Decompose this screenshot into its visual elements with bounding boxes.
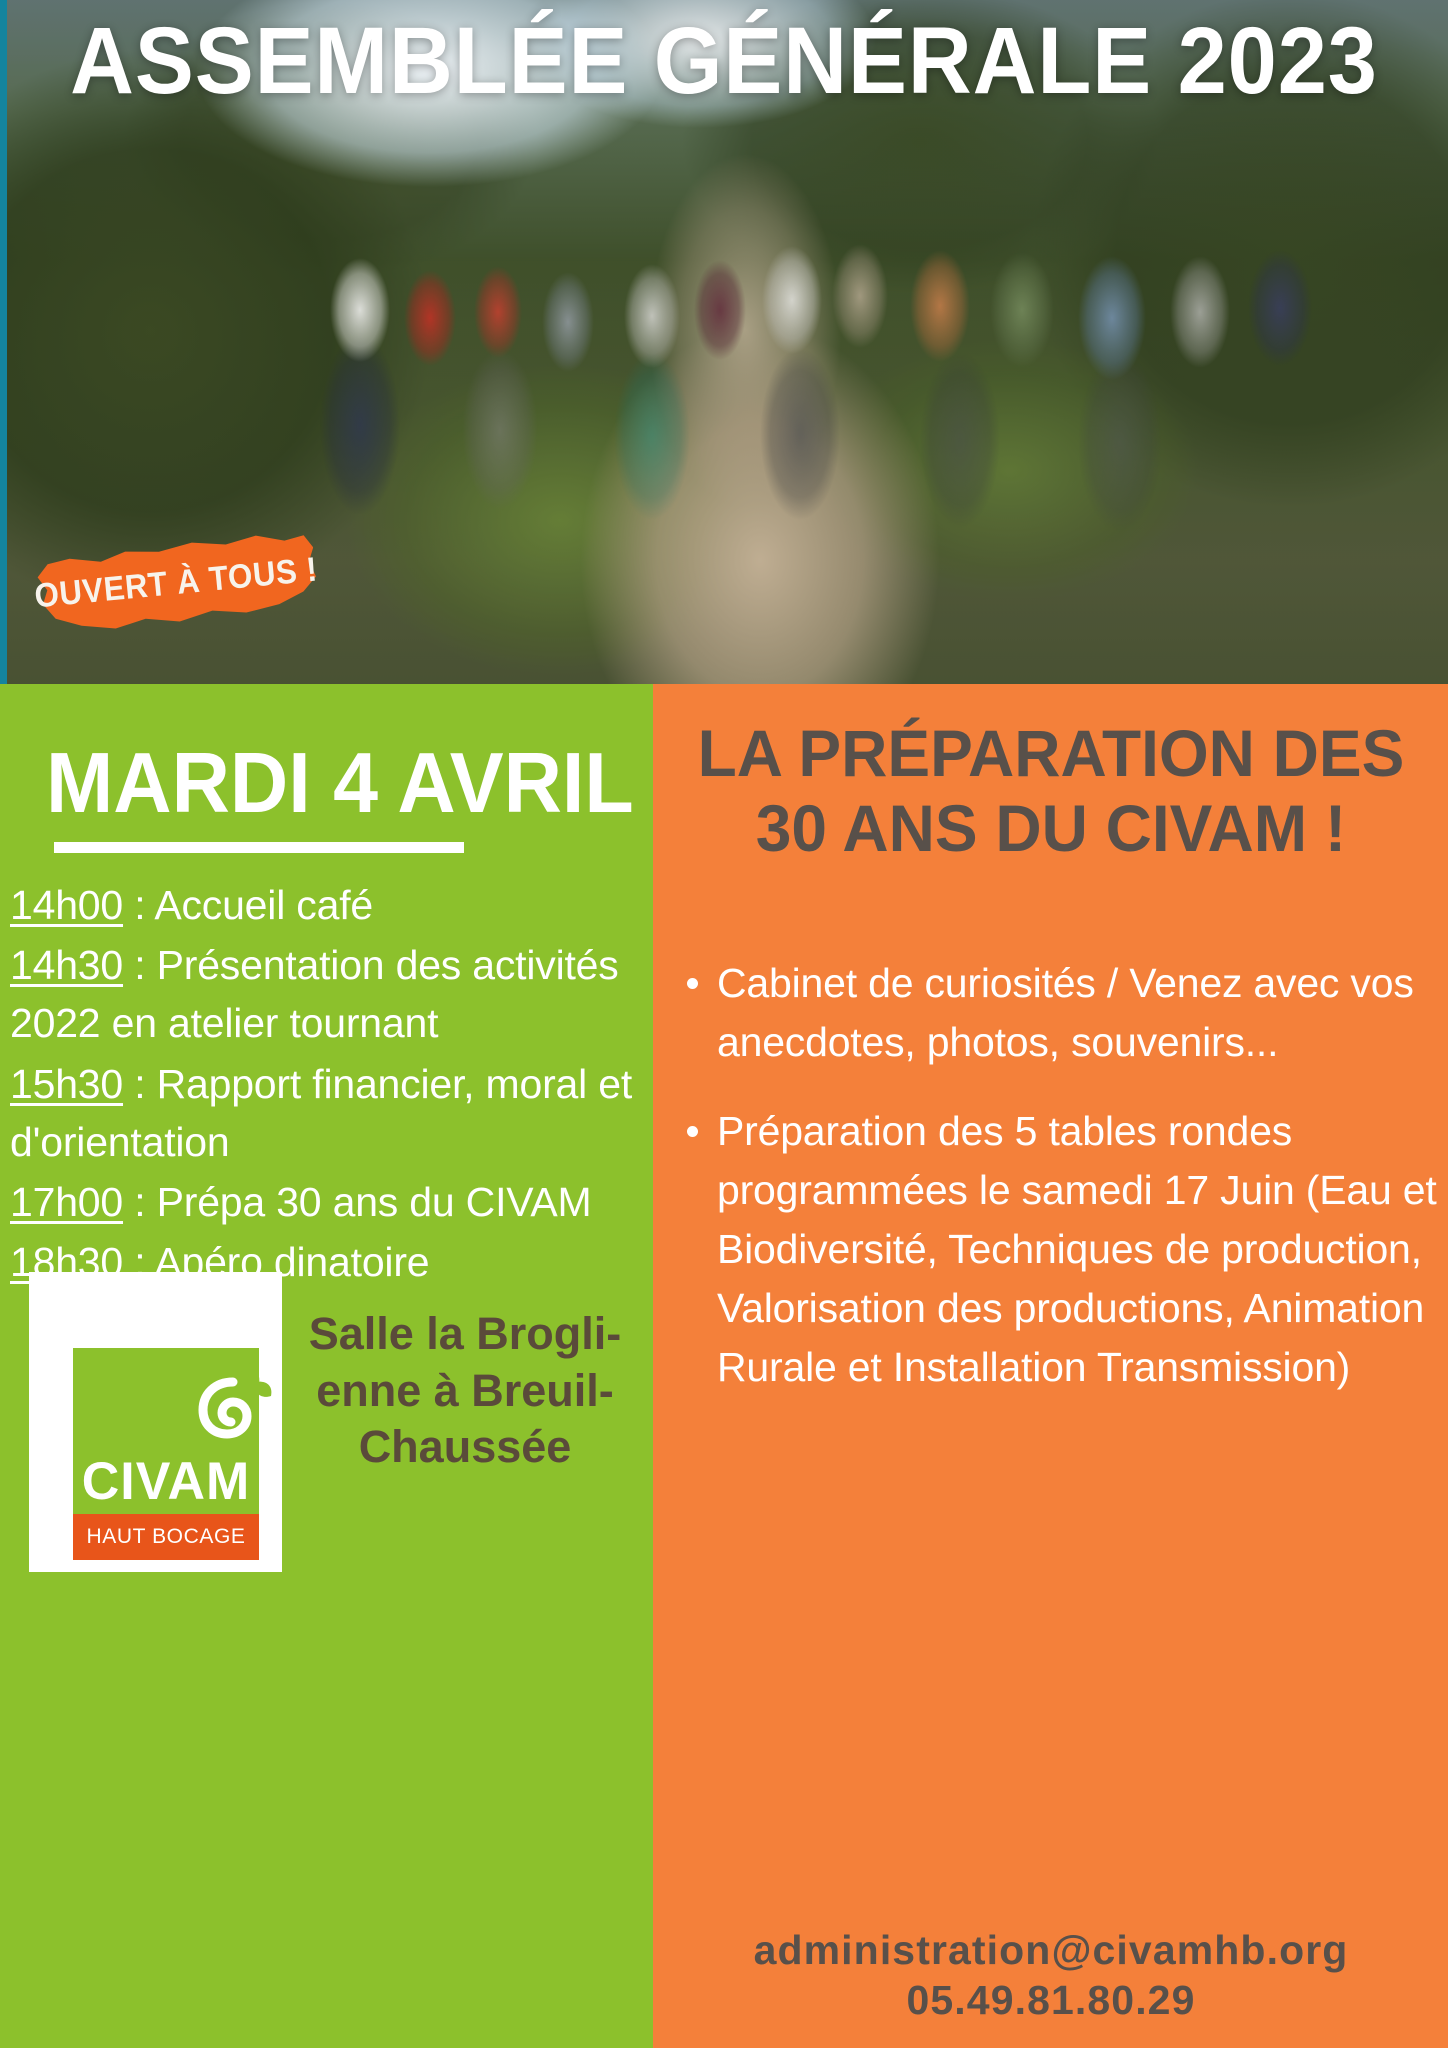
civam-logo: CIVAM HAUT BOCAGE xyxy=(29,1272,282,1572)
group-of-people xyxy=(300,190,1448,590)
schedule-item: 14h00 : Accueil café xyxy=(10,876,640,934)
poster-title: ASSEMBLÉE GÉNÉRALE 2023 xyxy=(51,12,1398,111)
schedule-separator: : xyxy=(123,882,154,928)
schedule-time: 14h00 xyxy=(10,882,123,928)
schedule-separator: : xyxy=(123,1179,157,1225)
schedule-time: 15h30 xyxy=(10,1061,123,1107)
preparation-heading: LA PRÉPARATION DES 30 ANS DU CIVAM ! xyxy=(688,716,1414,866)
day-heading: MARDI 4 AVRIL xyxy=(46,741,634,826)
hero-photo-section: ASSEMBLÉE GÉNÉRALE 2023 OUVERT À TOUS ! xyxy=(0,0,1448,684)
venue-address: Salle la Brogli­enne à Breuil-Chaussée xyxy=(300,1306,630,1476)
bullet-item: Cabinet de curiosités / Venez avec vos a… xyxy=(717,954,1448,1072)
poster: ASSEMBLÉE GÉNÉRALE 2023 OUVERT À TOUS ! … xyxy=(0,0,1448,2048)
civam-tagline: HAUT BOCAGE xyxy=(86,1525,245,1549)
schedule-separator: : xyxy=(123,942,157,988)
contact-email[interactable]: administration@civamhb.org xyxy=(673,1926,1429,1975)
schedule-panel: MARDI 4 AVRIL 14h00 : Accueil café 14h30… xyxy=(0,684,653,2048)
contact-phone[interactable]: 05.49.81.80.29 xyxy=(673,1975,1429,2026)
photo-left-edge-strip xyxy=(0,0,7,684)
bullet-item: Préparation des 5 tables rondes programm… xyxy=(717,1102,1448,1397)
civam-logo-band: HAUT BOCAGE xyxy=(73,1514,259,1560)
civam-wordmark: CIVAM xyxy=(75,1455,257,1508)
schedule-time: 17h00 xyxy=(10,1179,123,1225)
schedule-item: 14h30 : Présentation des activités 2022 … xyxy=(10,936,640,1052)
contact-block: administration@civamhb.org 05.49.81.80.2… xyxy=(673,1926,1429,2026)
schedule-text: Accueil café xyxy=(154,882,373,928)
preparation-panel: LA PRÉPARATION DES 30 ANS DU CIVAM ! Cab… xyxy=(653,684,1448,2048)
schedule-item: 17h00 : Prépa 30 ans du CIVAM xyxy=(10,1173,640,1231)
schedule-time: 14h30 xyxy=(10,942,123,988)
schedule-text: Prépa 30 ans du CIVAM xyxy=(157,1179,592,1225)
schedule-list: 14h00 : Accueil café 14h30 : Présentatio… xyxy=(10,876,640,1294)
day-heading-underline xyxy=(54,842,464,853)
preparation-bullet-list: Cabinet de curiosités / Venez avec vos a… xyxy=(671,954,1448,1427)
schedule-separator: : xyxy=(123,1061,157,1107)
schedule-item: 15h30 : Rapport financier, moral et d'or… xyxy=(10,1055,640,1171)
leaf-spiral-icon xyxy=(185,1356,273,1444)
civam-logo-mark: CIVAM xyxy=(73,1348,259,1514)
